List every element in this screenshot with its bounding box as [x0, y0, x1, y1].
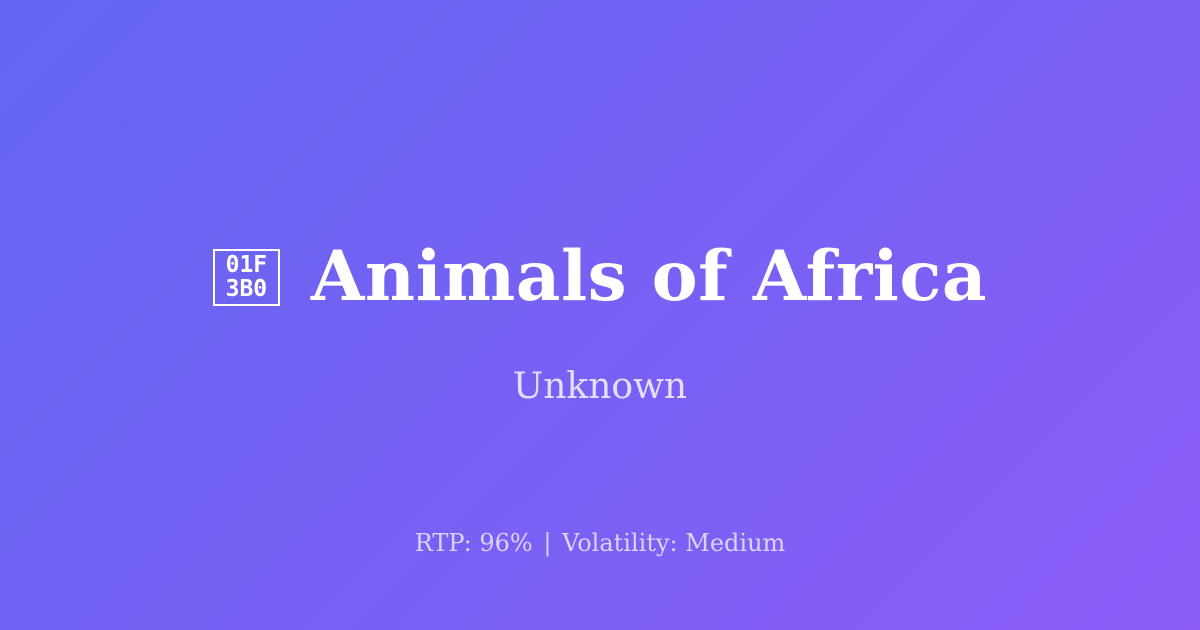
page-title: Animals of Africa: [311, 240, 987, 314]
title-row: 01F 3B0 Animals of Africa: [0, 240, 1200, 314]
tofu-codepoint-bottom: 3B0: [226, 277, 268, 301]
rtp-label: RTP: 96%: [415, 529, 533, 557]
meta-line: RTP: 96% | Volatility: Medium: [0, 528, 1200, 558]
slot-machine-emoji-icon: 01F 3B0: [213, 249, 280, 306]
volatility-label: Volatility: Medium: [562, 529, 785, 557]
page-subtitle: Unknown: [0, 365, 1200, 409]
meta-separator: |: [540, 529, 554, 557]
tofu-codepoint-top: 01F: [226, 253, 268, 277]
og-image-card: 01F 3B0 Animals of Africa Unknown RTP: 9…: [0, 0, 1200, 630]
